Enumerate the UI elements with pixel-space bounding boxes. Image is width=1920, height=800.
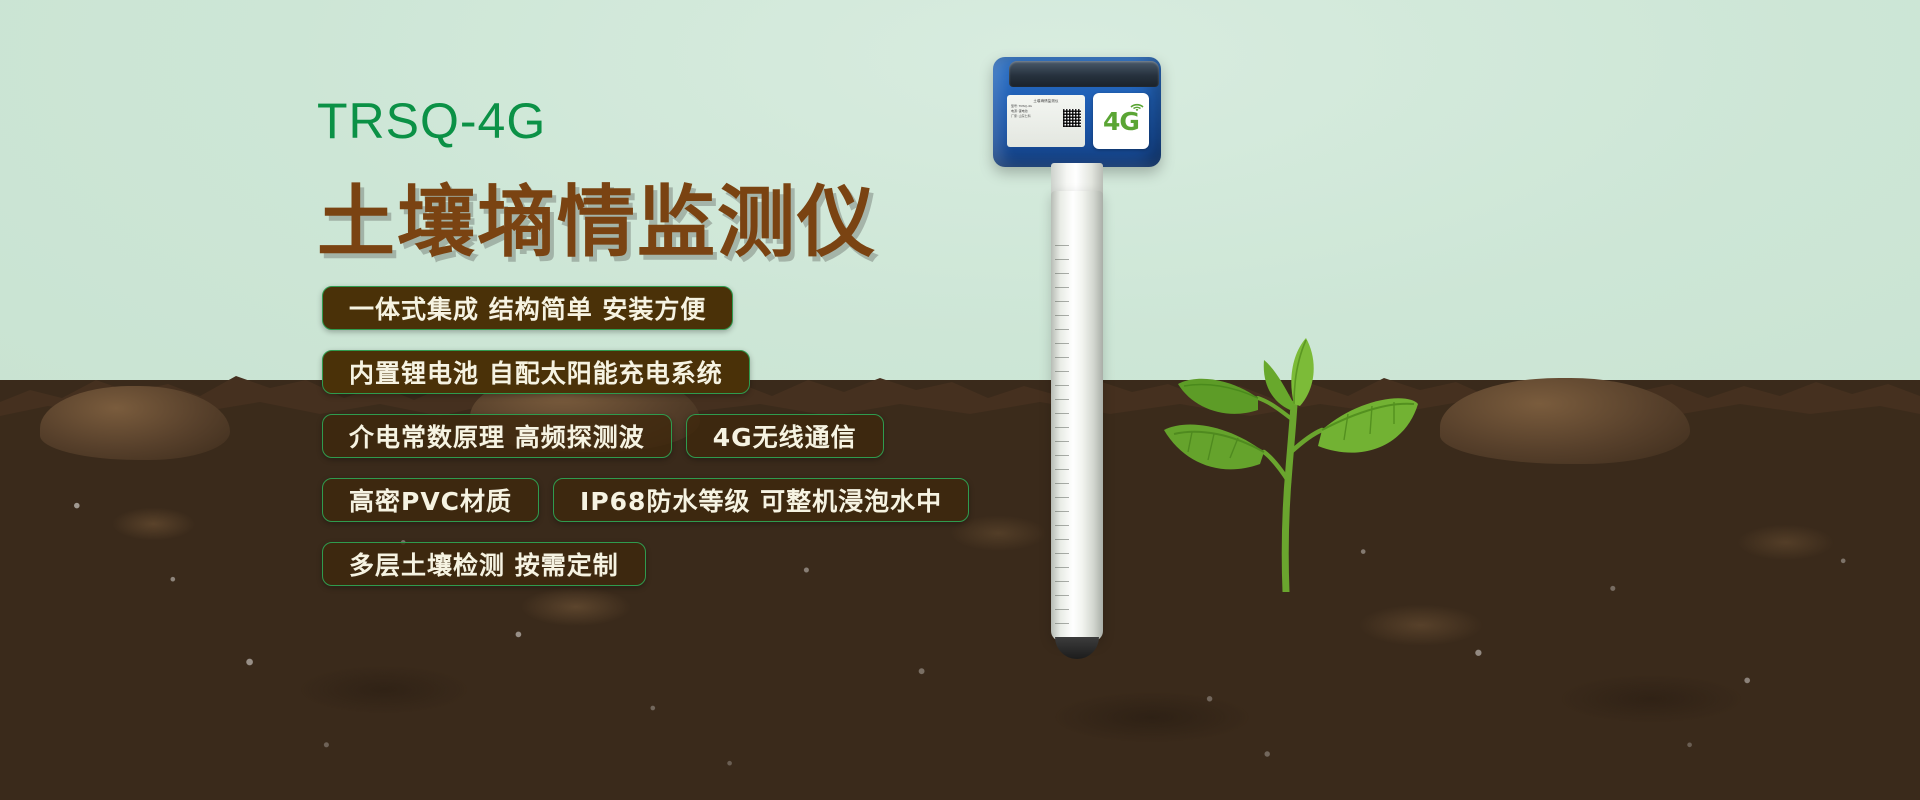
feature-badge[interactable]: 高密PVC材质 xyxy=(322,478,539,522)
device-head-housing: 土壤墒情监测仪 型号: TRSQ-4G 电源: 锂电池 厂家: 山东仁科 4G xyxy=(993,57,1161,167)
page-title: 土壤墒情监测仪 xyxy=(317,160,877,272)
wifi-signal-icon xyxy=(1130,98,1144,112)
4g-logo-text: 4G xyxy=(1103,109,1139,134)
qr-code-icon xyxy=(1063,109,1081,127)
feature-badge[interactable]: 多层土壤检测 按需定制 xyxy=(322,542,646,586)
feature-badge[interactable]: 介电常数原理 高频探测波 xyxy=(322,414,672,458)
feature-badge[interactable]: 内置锂电池 自配太阳能充电系统 xyxy=(322,350,750,394)
feature-row: 一体式集成 结构简单 安装方便 xyxy=(322,286,1322,330)
feature-badge[interactable]: 一体式集成 结构简单 安装方便 xyxy=(322,286,733,330)
feature-badge[interactable]: IP68防水等级 可整机浸泡水中 xyxy=(553,478,969,522)
product-model-code: TRSQ-4G xyxy=(317,92,546,150)
feature-row: 多层土壤检测 按需定制 xyxy=(322,542,1322,586)
4g-logo-badge: 4G xyxy=(1093,93,1149,149)
feature-row: 高密PVC材质 IP68防水等级 可整机浸泡水中 xyxy=(322,478,1322,522)
feature-badge[interactable]: 4G无线通信 xyxy=(686,414,884,458)
feature-badge-list: 一体式集成 结构简单 安装方便 内置锂电池 自配太阳能充电系统 介电常数原理 高… xyxy=(322,286,1322,606)
feature-row: 内置锂电池 自配太阳能充电系统 xyxy=(322,350,1322,394)
device-nameplate: 土壤墒情监测仪 型号: TRSQ-4G 电源: 锂电池 厂家: 山东仁科 xyxy=(1007,95,1085,147)
solar-panel xyxy=(1009,61,1159,87)
feature-row: 介电常数原理 高频探测波 4G无线通信 xyxy=(322,414,1322,458)
product-banner: 土壤墒情监测仪 型号: TRSQ-4G 电源: 锂电池 厂家: 山东仁科 4G xyxy=(0,0,1920,800)
